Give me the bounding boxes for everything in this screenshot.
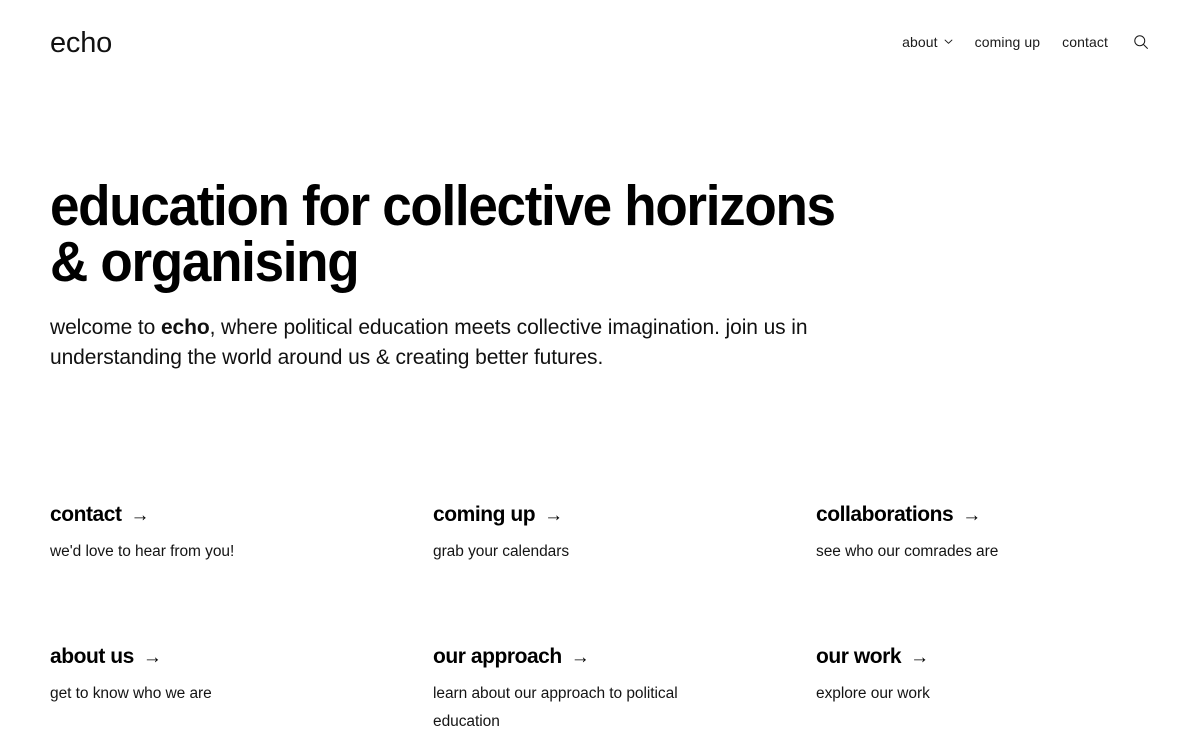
link-card-our-approach-title[interactable]: our approach → [433,645,589,669]
search-icon[interactable] [1132,33,1150,51]
link-card-our-work-desc: explore our work [816,680,1116,708]
link-card-collaborations-desc: see who our comrades are [816,538,1116,566]
nav-item-contact[interactable]: contact [1062,35,1108,49]
link-card-about-us[interactable]: about us → get to know who we are [50,645,433,736]
link-card-our-work-title[interactable]: our work → [816,645,929,669]
link-card-contact-desc: we'd love to hear from you! [50,538,350,566]
hero-intro-before: welcome to [50,316,161,339]
link-card-collaborations-label: collaborations [816,503,953,527]
link-card-collaborations[interactable]: collaborations → see who our comrades ar… [816,503,1150,566]
hero-intro-brand: echo [161,316,210,339]
arrow-right-icon: → [910,648,929,667]
link-card-coming-up[interactable]: coming up → grab your calendars [433,503,816,566]
link-card-our-approach[interactable]: our approach → learn about our approach … [433,645,816,736]
link-card-our-work-label: our work [816,645,901,669]
link-card-coming-up-title[interactable]: coming up → [433,503,563,527]
nav-item-coming-up[interactable]: coming up [975,35,1041,49]
page-root: echo about coming up contact [0,0,1200,750]
link-card-about-us-title[interactable]: about us → [50,645,161,669]
nav-item-about-label: about [902,35,938,49]
arrow-right-icon: → [143,648,162,667]
chevron-down-icon [944,37,953,46]
arrow-right-icon: → [544,506,563,525]
link-card-our-approach-label: our approach [433,645,562,669]
link-card-coming-up-label: coming up [433,503,535,527]
site-logo[interactable]: echo [50,27,112,58]
link-card-contact[interactable]: contact → we'd love to hear from you! [50,503,433,566]
hero-intro-text: welcome to echo, where political educati… [50,313,862,373]
page-title: education for collective horizons & orga… [50,178,868,290]
nav-item-coming-up-label: coming up [975,35,1041,49]
nav-item-about[interactable]: about [902,35,953,49]
arrow-right-icon: → [962,506,981,525]
link-card-our-work[interactable]: our work → explore our work [816,645,1150,736]
link-card-coming-up-desc: grab your calendars [433,538,733,566]
quick-links-grid: contact → we'd love to hear from you! co… [50,503,1150,736]
link-card-about-us-desc: get to know who we are [50,680,350,708]
hero-section: education for collective horizons & orga… [50,178,950,373]
link-card-about-us-label: about us [50,645,134,669]
main-navigation: about coming up contact [902,33,1150,51]
link-card-contact-label: contact [50,503,122,527]
link-card-our-approach-desc: learn about our approach to political ed… [433,680,733,736]
nav-item-contact-label: contact [1062,35,1108,49]
link-card-contact-title[interactable]: contact → [50,503,149,527]
link-card-collaborations-title[interactable]: collaborations → [816,503,981,527]
arrow-right-icon: → [131,506,150,525]
site-header: echo about coming up contact [0,0,1200,84]
arrow-right-icon: → [571,648,590,667]
